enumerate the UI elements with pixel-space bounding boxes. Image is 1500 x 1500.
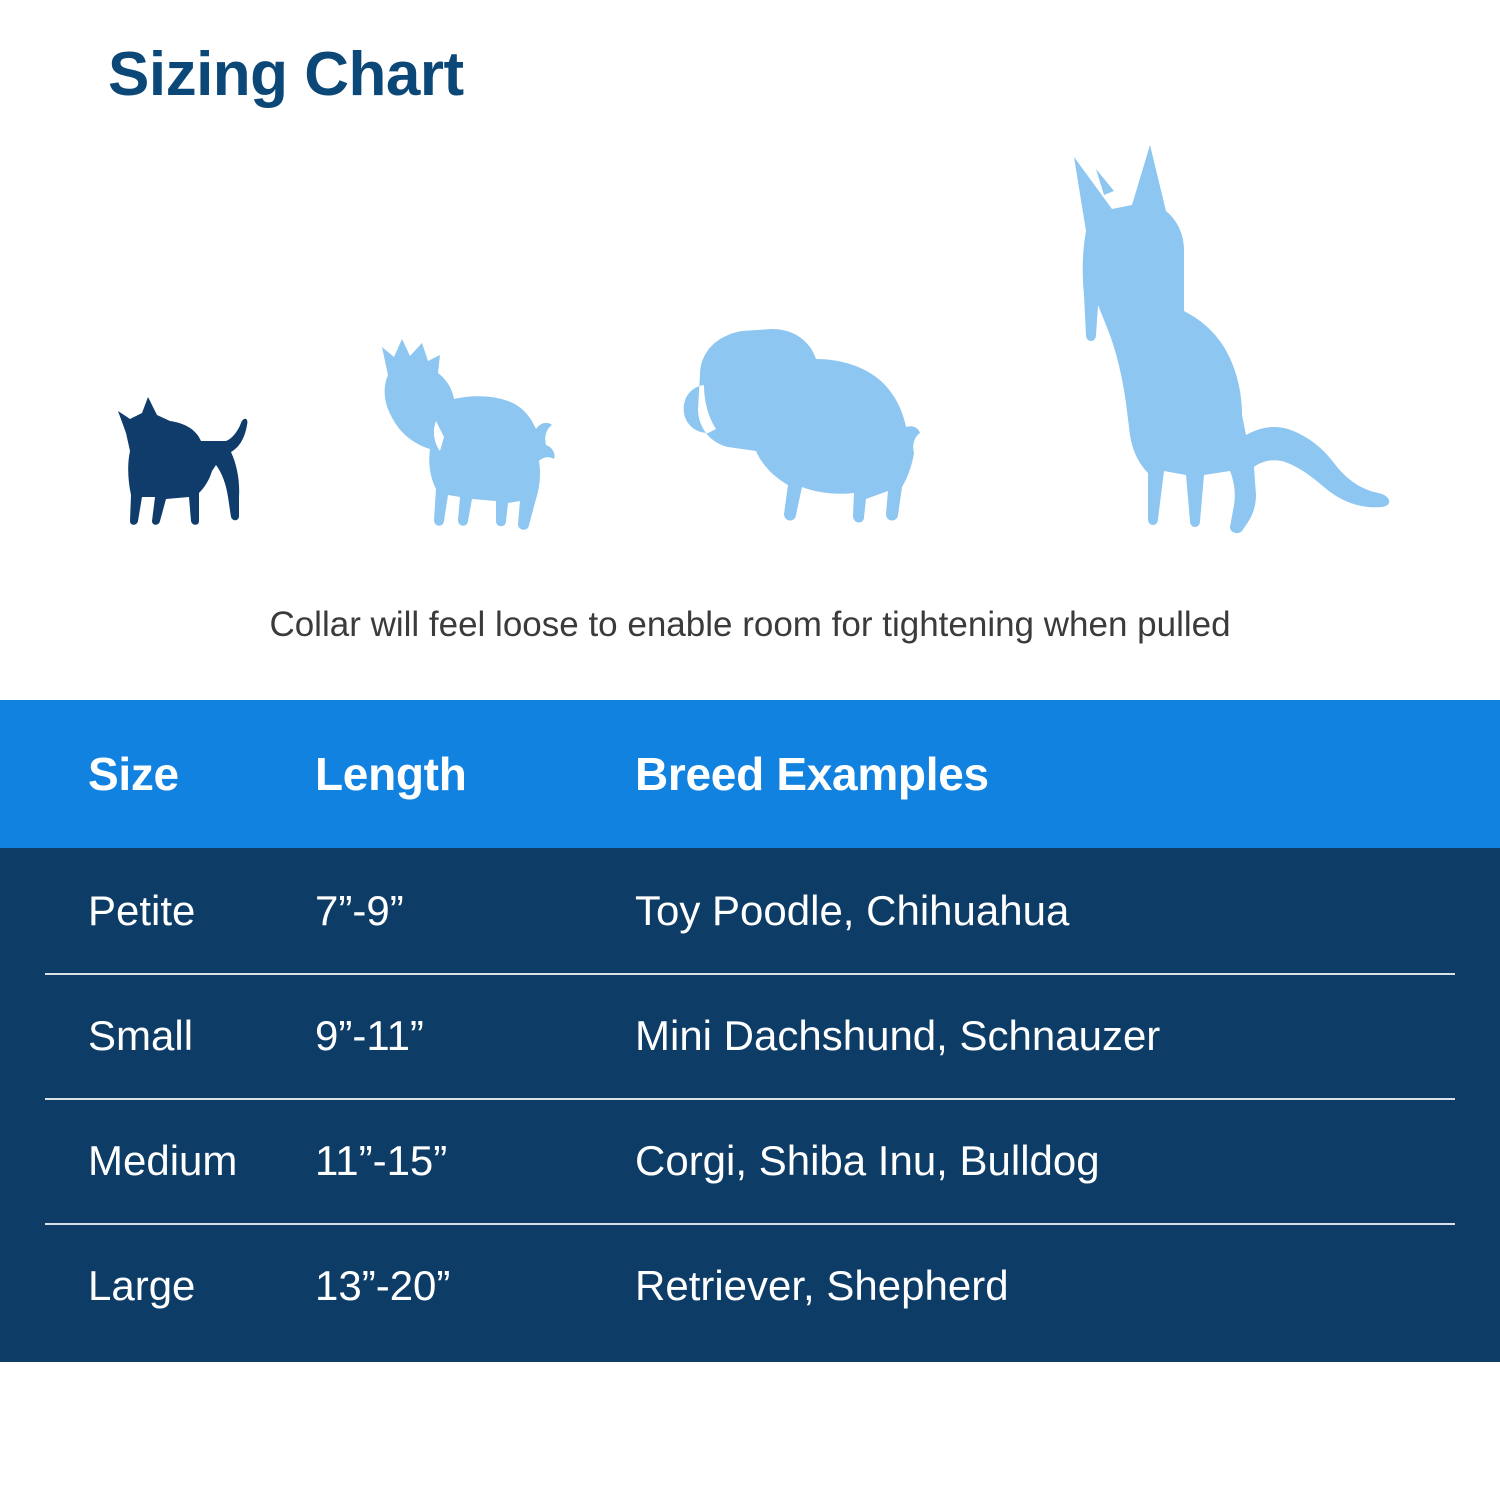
column-header-size: Size [0, 747, 315, 801]
cell-size: Medium [0, 1137, 315, 1185]
shepherd-silhouette [1060, 135, 1410, 545]
sizing-chart-page: Sizing Chart Collar will feel loo [0, 0, 1500, 1500]
caption-text: Collar will feel loose to enable room fo… [0, 605, 1500, 645]
table-row: Small 9”-11” Mini Dachshund, Schnauzer [0, 973, 1500, 1098]
table-row: Medium 11”-15” Corgi, Shiba Inu, Bulldog [0, 1098, 1500, 1223]
page-title: Sizing Chart [108, 42, 464, 107]
table-row: Petite 7”-9” Toy Poodle, Chihuahua [0, 848, 1500, 973]
table-row: Large 13”-20” Retriever, Shepherd [0, 1223, 1500, 1348]
cell-size: Petite [0, 887, 315, 935]
column-header-length: Length [315, 747, 635, 801]
dog-silhouette-row [0, 120, 1500, 560]
cell-breeds: Mini Dachshund, Schnauzer [635, 1012, 1500, 1060]
table-body: Petite 7”-9” Toy Poodle, Chihuahua Small… [0, 848, 1500, 1362]
cell-length: 13”-20” [315, 1262, 635, 1310]
table-header-row: Size Length Breed Examples [0, 700, 1500, 848]
schnauzer-silhouette [340, 325, 570, 545]
cell-size: Large [0, 1262, 315, 1310]
cell-breeds: Retriever, Shepherd [635, 1262, 1500, 1310]
cell-size: Small [0, 1012, 315, 1060]
sizing-table: Size Length Breed Examples Petite 7”-9” … [0, 700, 1500, 1362]
cell-length: 11”-15” [315, 1137, 635, 1185]
cell-length: 7”-9” [315, 887, 635, 935]
cell-breeds: Toy Poodle, Chihuahua [635, 887, 1500, 935]
cell-breeds: Corgi, Shiba Inu, Bulldog [635, 1137, 1500, 1185]
chihuahua-silhouette [100, 385, 250, 545]
bulldog-silhouette [660, 315, 950, 545]
cell-length: 9”-11” [315, 1012, 635, 1060]
column-header-breed-examples: Breed Examples [635, 747, 1500, 801]
